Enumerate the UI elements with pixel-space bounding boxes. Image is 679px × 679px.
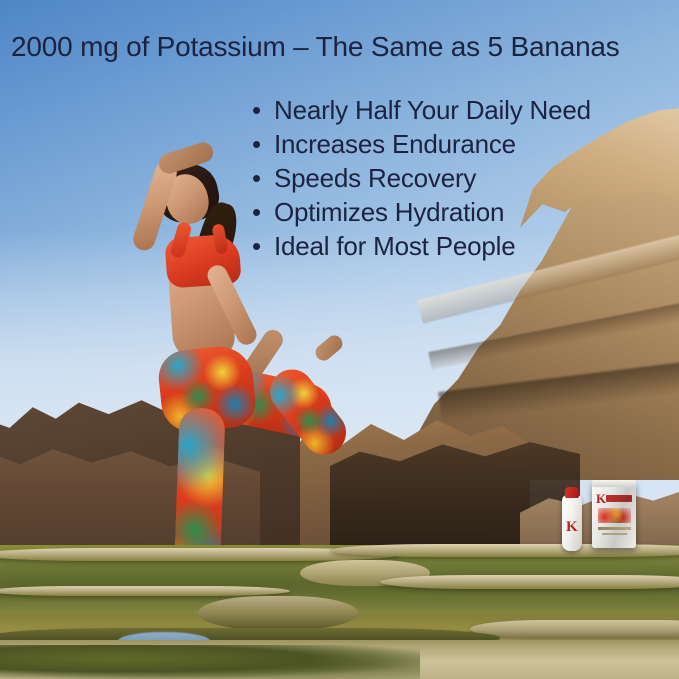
pouch-label-line-2 [602,533,627,535]
list-item: • Speeds Recovery [252,161,591,195]
pouch-fruit-illustration [598,508,631,523]
terrace-ledge-4 [380,575,679,589]
list-item: • Optimizes Hydration [252,195,591,229]
terrace-ledge-3 [0,586,290,596]
list-item-label: Increases Endurance [274,127,516,161]
bottle-cap [565,487,579,498]
pouch-label-line-1 [598,527,631,530]
bullet-marker-icon: • [252,161,274,195]
pouch-seal [592,480,636,487]
list-item-label: Optimizes Hydration [274,195,504,229]
bottle-k-logo-icon: K [566,518,578,536]
bullet-marker-icon: • [252,127,274,161]
list-item-label: Nearly Half Your Daily Need [274,93,591,127]
headline: 2000 mg of Potassium – The Same as 5 Ban… [11,31,620,63]
bullet-marker-icon: • [252,195,274,229]
bullet-marker-icon: • [252,93,274,127]
benefit-list: • Nearly Half Your Daily Need • Increase… [252,93,591,263]
list-item-label: Ideal for Most People [274,229,516,263]
list-item-label: Speeds Recovery [274,161,476,195]
list-item: • Ideal for Most People [252,229,591,263]
list-item: • Increases Endurance [252,127,591,161]
foreground-moss [0,645,420,679]
pouch-k-logo-icon: K [596,492,606,505]
standing-rock [198,596,358,630]
terrace-ledge-6 [470,620,679,638]
raised-foot [312,332,345,364]
bullet-marker-icon: • [252,229,274,263]
list-item: • Nearly Half Your Daily Need [252,93,591,127]
pouch-brand-wordmark [606,495,632,502]
advertisement-image: K K 2000 mg of Potassium – The Same as 5… [0,0,679,679]
